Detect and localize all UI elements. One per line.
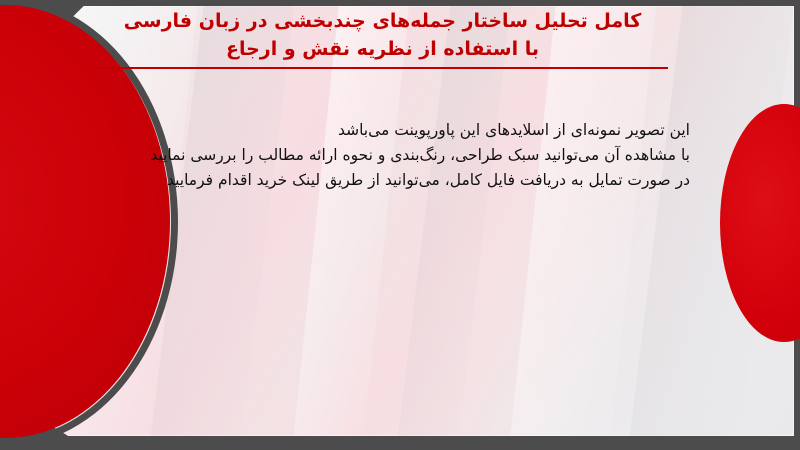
body-line-1: این تصویر نمونه‌ای از اسلایدهای این پاور… [140,118,690,143]
slide-body-text: این تصویر نمونه‌ای از اسلایدهای این پاور… [140,118,690,193]
slide-canvas: کامل تحلیل ساختار جمله‌های چندبخشی در زب… [0,0,800,450]
slide-bottom-border [0,440,800,450]
slide-title-line-2: با استفاده از نظریه نقش و ارجاع [60,36,705,64]
slide-title-line-1: کامل تحلیل ساختار جمله‌های چندبخشی در زب… [60,8,705,36]
title-underline-rule [98,67,668,69]
body-line-3: در صورت تمایل به دریافت فایل کامل، می‌تو… [140,168,690,193]
slide-title: کامل تحلیل ساختار جمله‌های چندبخشی در زب… [60,8,705,69]
body-line-2: با مشاهده آن می‌توانید سبک طراحی، رنگ‌بن… [140,143,690,168]
